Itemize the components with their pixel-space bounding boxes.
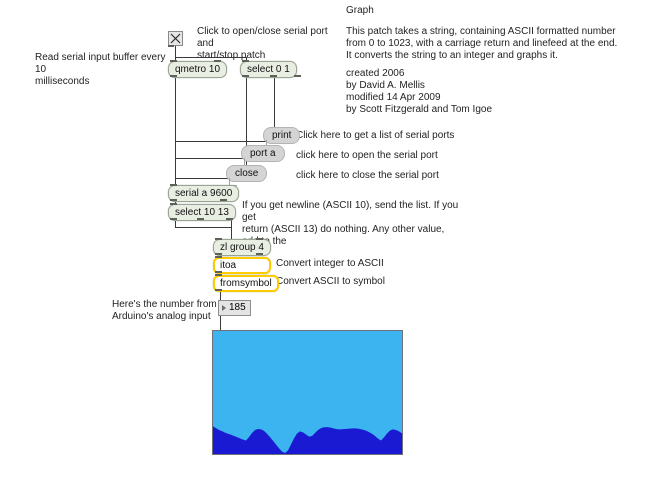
- zl-outlet-left: [215, 253, 222, 255]
- cord-select1013-out-right: [231, 219, 232, 241]
- qmetro-inlet-right: [214, 60, 221, 62]
- object-itoa-label: itoa: [220, 260, 236, 271]
- cord-number-to-graph: [220, 316, 221, 330]
- toggle-serial-onoff[interactable]: [168, 31, 183, 46]
- cord-close-to-serial: [175, 178, 233, 179]
- select1013-inlet: [170, 203, 177, 205]
- comment-close-hint: click here to close the serial port: [296, 170, 439, 182]
- comment-print-hint: Click here to get a list of serial ports: [296, 130, 454, 142]
- message-print-label: print: [272, 130, 291, 141]
- comment-number-hint: Here's the number from Arduino's analog …: [112, 299, 232, 323]
- serial-inlet: [170, 184, 177, 186]
- cord-print-to-serial: [175, 141, 270, 142]
- cord-qmetro-to-serial: [175, 76, 176, 186]
- comment-credits: created 2006 by David A. Mellis modified…: [346, 68, 636, 116]
- zl-outlet-right: [256, 253, 263, 255]
- comment-itoa-hint: Convert integer to ASCII: [276, 258, 384, 270]
- patcher-canvas: Graph This patch takes a string, contain…: [0, 0, 650, 481]
- object-select-1013-label: select 10 13: [175, 207, 229, 218]
- comment-select-hint: If you get newline (ASCII 10), send the …: [242, 200, 460, 260]
- comment-metro-hint: Read serial input buffer every 10 millis…: [35, 52, 175, 88]
- object-serial-label: serial a 9600: [175, 188, 232, 199]
- fromsymbol-inlet: [215, 274, 222, 276]
- object-qmetro-label: qmetro 10: [175, 64, 220, 75]
- cord-select1013-bus: [175, 227, 232, 228]
- object-select-start-label: select 0 1: [247, 64, 290, 75]
- fromsymbol-outlet: [215, 289, 222, 291]
- select01-outlet-right: [294, 75, 301, 77]
- number-box-analog-value[interactable]: 185: [218, 300, 251, 316]
- select1013-outlet-left: [170, 218, 177, 220]
- zl-inlet-right: [256, 238, 263, 240]
- comment-graph-title: Graph: [346, 5, 374, 17]
- itoa-outlet: [215, 271, 222, 273]
- select1013-outlet-right: [226, 218, 233, 220]
- message-close-tail: [229, 178, 237, 186]
- select01-outlet-mid: [270, 75, 277, 77]
- comment-fromsymbol-hint: Convert ASCII to symbol: [276, 276, 385, 288]
- cord-porta-to-serial: [175, 158, 248, 159]
- zl-inlet-left: [215, 238, 222, 240]
- serial-outlet-left: [170, 199, 177, 201]
- cord-select01-right-out: [274, 76, 275, 132]
- number-box-value: 185: [229, 302, 246, 313]
- qmetro-outlet: [170, 75, 177, 77]
- message-close-label: close: [235, 168, 258, 179]
- number-box-triangle-icon: [222, 305, 226, 311]
- object-serial[interactable]: serial a 9600: [168, 185, 239, 202]
- select1013-outlet-mid: [197, 218, 204, 220]
- object-fromsymbol[interactable]: fromsymbol: [213, 275, 279, 292]
- object-fromsymbol-label: fromsymbol: [220, 278, 272, 289]
- message-port-a-label: port a: [250, 148, 276, 159]
- toggle-outlet: [168, 45, 174, 47]
- comment-port-hint: click here to open the serial port: [296, 150, 438, 162]
- select01-outlet-left: [242, 75, 249, 77]
- itoa-inlet: [215, 256, 222, 258]
- cord-toggle-to-select: [175, 57, 246, 58]
- comment-description: This patch takes a string, containing AS…: [346, 26, 636, 62]
- qmetro-inlet-left: [170, 60, 177, 62]
- graph-display[interactable]: [212, 330, 403, 455]
- object-zl-group-label: zl group 4: [220, 242, 264, 253]
- select01-inlet: [242, 60, 249, 62]
- serial-outlet-right: [220, 199, 227, 201]
